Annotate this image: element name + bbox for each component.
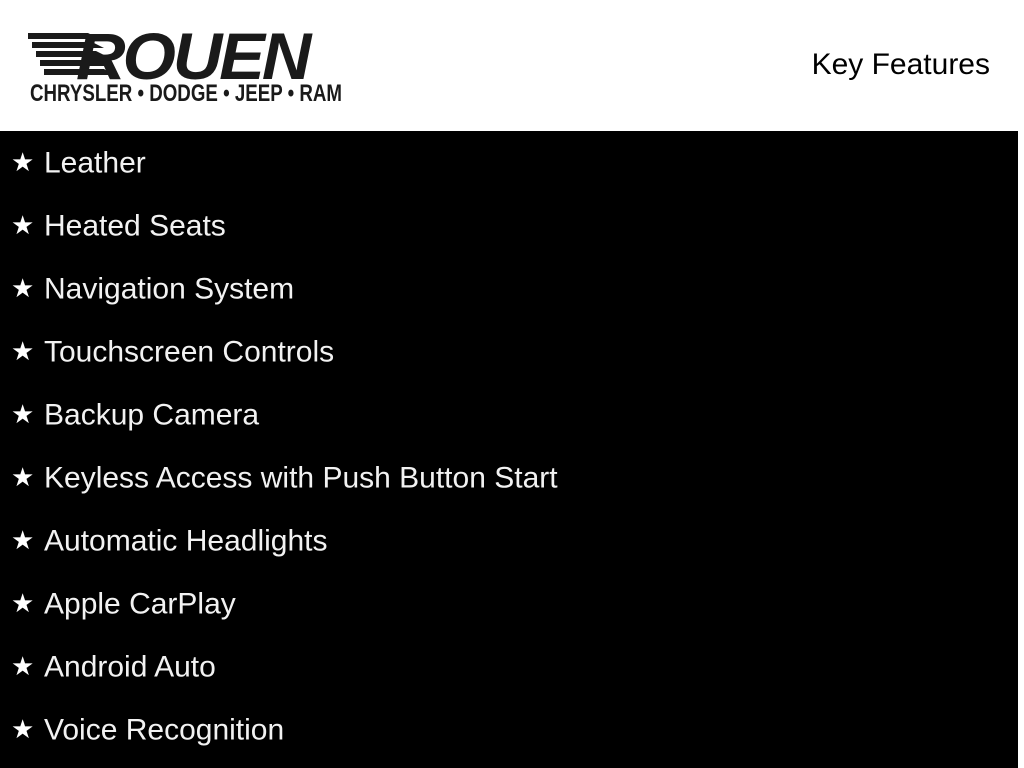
list-item: ★ Keyless Access with Push Button Start [0, 446, 1018, 509]
star-icon: ★ [11, 257, 31, 320]
feature-label: Keyless Access with Push Button Start [44, 461, 558, 494]
star-icon: ★ [11, 509, 31, 572]
list-item: ★ Voice Recognition [0, 698, 1018, 761]
key-features-panel: ★ Leather ★ Heated Seats ★ Navigation Sy… [0, 131, 1018, 768]
logo-tagline: CHRYSLER • DODGE • JEEP • RAM [30, 82, 342, 106]
feature-label: Android Auto [44, 650, 216, 683]
feature-label: Navigation System [44, 272, 294, 305]
list-item: ★ Android Auto [0, 635, 1018, 698]
feature-label: Leather [44, 146, 146, 179]
star-icon: ★ [11, 698, 31, 761]
logo-mark: ROUEN [28, 26, 303, 84]
page-title: Key Features [812, 50, 990, 80]
feature-label: Voice Recognition [44, 713, 284, 746]
list-item: ★ Navigation System [0, 257, 1018, 320]
list-item: ★ Heated Seats [0, 194, 1018, 257]
star-icon: ★ [11, 635, 31, 698]
list-item: ★ Backup Camera [0, 383, 1018, 446]
page-root: ROUEN CHRYSLER • DODGE • JEEP • RAM Key … [0, 0, 1024, 768]
star-icon: ★ [11, 383, 31, 446]
list-item: ★ Leather [0, 131, 1018, 194]
star-icon: ★ [11, 446, 31, 509]
feature-label: Heated Seats [44, 209, 226, 242]
star-icon: ★ [11, 131, 31, 194]
list-item: ★ Apple CarPlay [0, 572, 1018, 635]
dealer-logo[interactable]: ROUEN CHRYSLER • DODGE • JEEP • RAM [28, 26, 303, 110]
feature-label: Backup Camera [44, 398, 259, 431]
feature-list: ★ Leather ★ Heated Seats ★ Navigation Sy… [0, 131, 1018, 761]
list-item: ★ Touchscreen Controls [0, 320, 1018, 383]
feature-label: Automatic Headlights [44, 524, 327, 557]
feature-label: Touchscreen Controls [44, 335, 334, 368]
list-item: ★ Automatic Headlights [0, 509, 1018, 572]
page-header: ROUEN CHRYSLER • DODGE • JEEP • RAM Key … [0, 0, 1024, 131]
star-icon: ★ [11, 194, 31, 257]
star-icon: ★ [11, 320, 31, 383]
feature-label: Apple CarPlay [44, 587, 236, 620]
star-icon: ★ [11, 572, 31, 635]
